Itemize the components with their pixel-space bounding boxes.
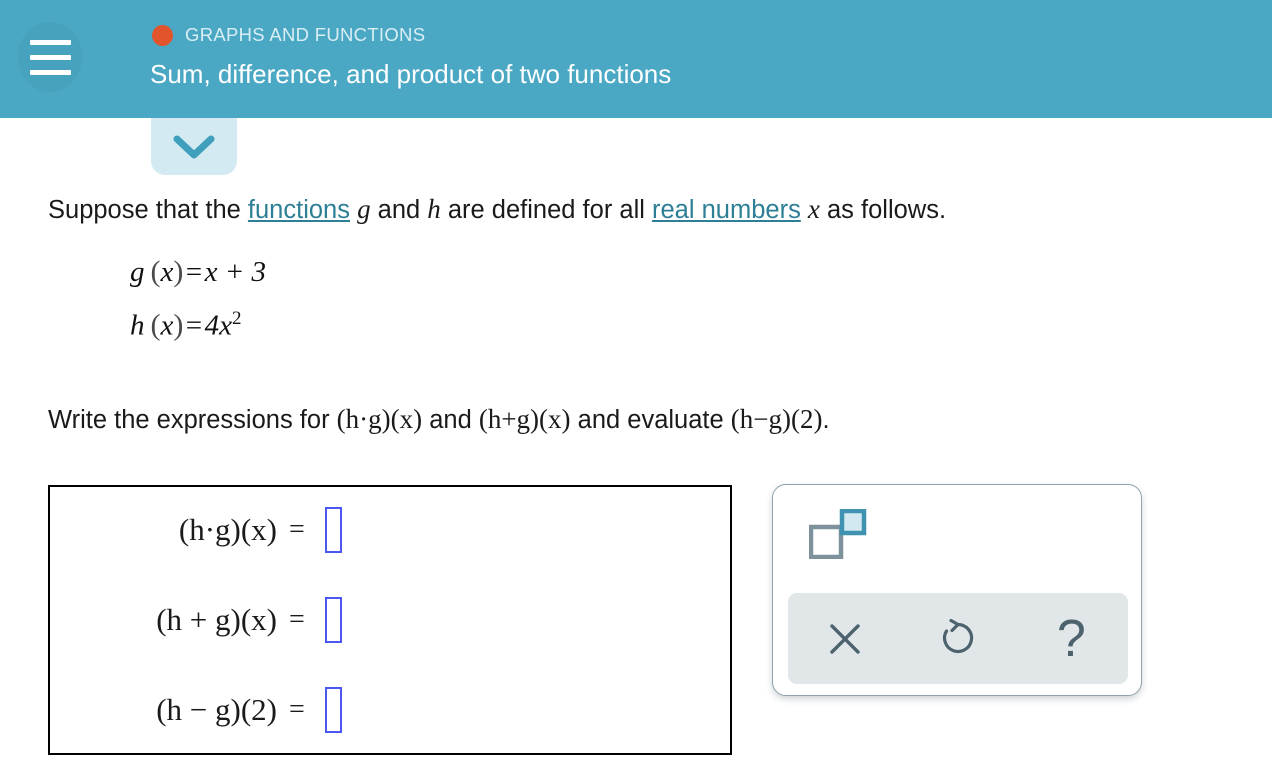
answer-input-sum[interactable]: [325, 597, 342, 643]
definition-h-name: h: [130, 310, 145, 342]
line1-part3: and: [371, 196, 428, 224]
definition-h-arg: x: [161, 310, 174, 342]
definition-g-arg: x: [161, 256, 174, 288]
close-icon: [825, 619, 865, 659]
line1-part1: Suppose that the: [48, 196, 248, 224]
answer-row-product-label: (h·g)(x): [72, 512, 277, 548]
collapse-panel-tab[interactable]: [151, 118, 237, 175]
line2-expression-difference: (h−g)(2): [731, 404, 823, 434]
answer-row-sum: (h + g)(x) =: [72, 597, 342, 643]
problem-line-2: Write the expressions for (h·g)(x) and (…: [0, 401, 830, 437]
line1-var-g: g: [357, 194, 371, 224]
math-tool-row: ?: [788, 593, 1128, 684]
topic-eyebrow: GRAPHS AND FUNCTIONS: [152, 24, 425, 46]
problem-line-1: Suppose that the functions g and h are d…: [0, 191, 946, 227]
line1-part2: [350, 196, 357, 224]
definition-h-rhs: 4x: [205, 310, 232, 342]
answer-row-product: (h·g)(x) =: [72, 507, 342, 553]
answer-row-sum-equals: =: [289, 604, 305, 636]
chevron-down-icon: [172, 134, 216, 160]
answer-row-difference-label: (h − g)(2): [72, 692, 277, 728]
line2-expression-sum: (h+g)(x): [479, 404, 571, 434]
definition-g-rhs: x + 3: [205, 256, 266, 288]
line2-part3: and evaluate: [571, 406, 731, 434]
answer-row-difference: (h − g)(2) =: [72, 687, 342, 733]
definition-h: h (x) = 4x2: [130, 309, 266, 341]
line1-part5: [801, 196, 808, 224]
clear-button[interactable]: [810, 604, 880, 674]
definition-g: g (x) = x + 3: [130, 257, 266, 287]
hamburger-menu-icon-bar: [30, 40, 71, 45]
help-icon: ?: [1057, 613, 1086, 665]
answer-input-difference[interactable]: [325, 687, 342, 733]
answer-row-sum-label: (h + g)(x): [72, 602, 277, 638]
function-definitions: g (x) = x + 3 h (x) = 4x2: [130, 257, 266, 363]
answer-box: (h·g)(x) = (h + g)(x) = (h − g)(2) =: [48, 485, 732, 755]
line1-part4: are defined for all: [441, 196, 652, 224]
exponent-icon: [809, 509, 867, 559]
answer-input-product[interactable]: [325, 507, 342, 553]
real-numbers-link[interactable]: real numbers: [652, 196, 801, 224]
help-button[interactable]: ?: [1036, 604, 1106, 674]
page-title: Sum, difference, and product of two func…: [150, 59, 671, 90]
answer-row-product-equals: =: [289, 514, 305, 546]
line1-var-h: h: [427, 194, 441, 224]
line2-expression-product: (h·g)(x): [337, 404, 422, 434]
line2-part2: and: [422, 406, 479, 434]
line2-part1: Write the expressions for: [48, 406, 337, 434]
functions-link[interactable]: functions: [248, 196, 350, 224]
app-header: GRAPHS AND FUNCTIONS Sum, difference, an…: [0, 0, 1272, 118]
hamburger-menu-icon-bar: [30, 55, 71, 60]
line2-part4: .: [822, 406, 829, 434]
undo-icon: [937, 618, 979, 660]
definition-h-exponent: 2: [232, 308, 242, 329]
topic-status-dot-icon: [152, 25, 173, 46]
definition-g-name: g: [130, 256, 145, 288]
answer-row-difference-equals: =: [289, 694, 305, 726]
hamburger-menu-icon-bar: [30, 70, 71, 75]
hamburger-menu-button[interactable]: [18, 22, 82, 92]
topic-name: GRAPHS AND FUNCTIONS: [185, 24, 425, 46]
math-tool-panel: ?: [772, 484, 1142, 696]
line1-part6: as follows.: [820, 196, 946, 224]
undo-button[interactable]: [923, 604, 993, 674]
line1-var-x: x: [808, 194, 820, 224]
exponent-button[interactable]: [809, 509, 867, 559]
